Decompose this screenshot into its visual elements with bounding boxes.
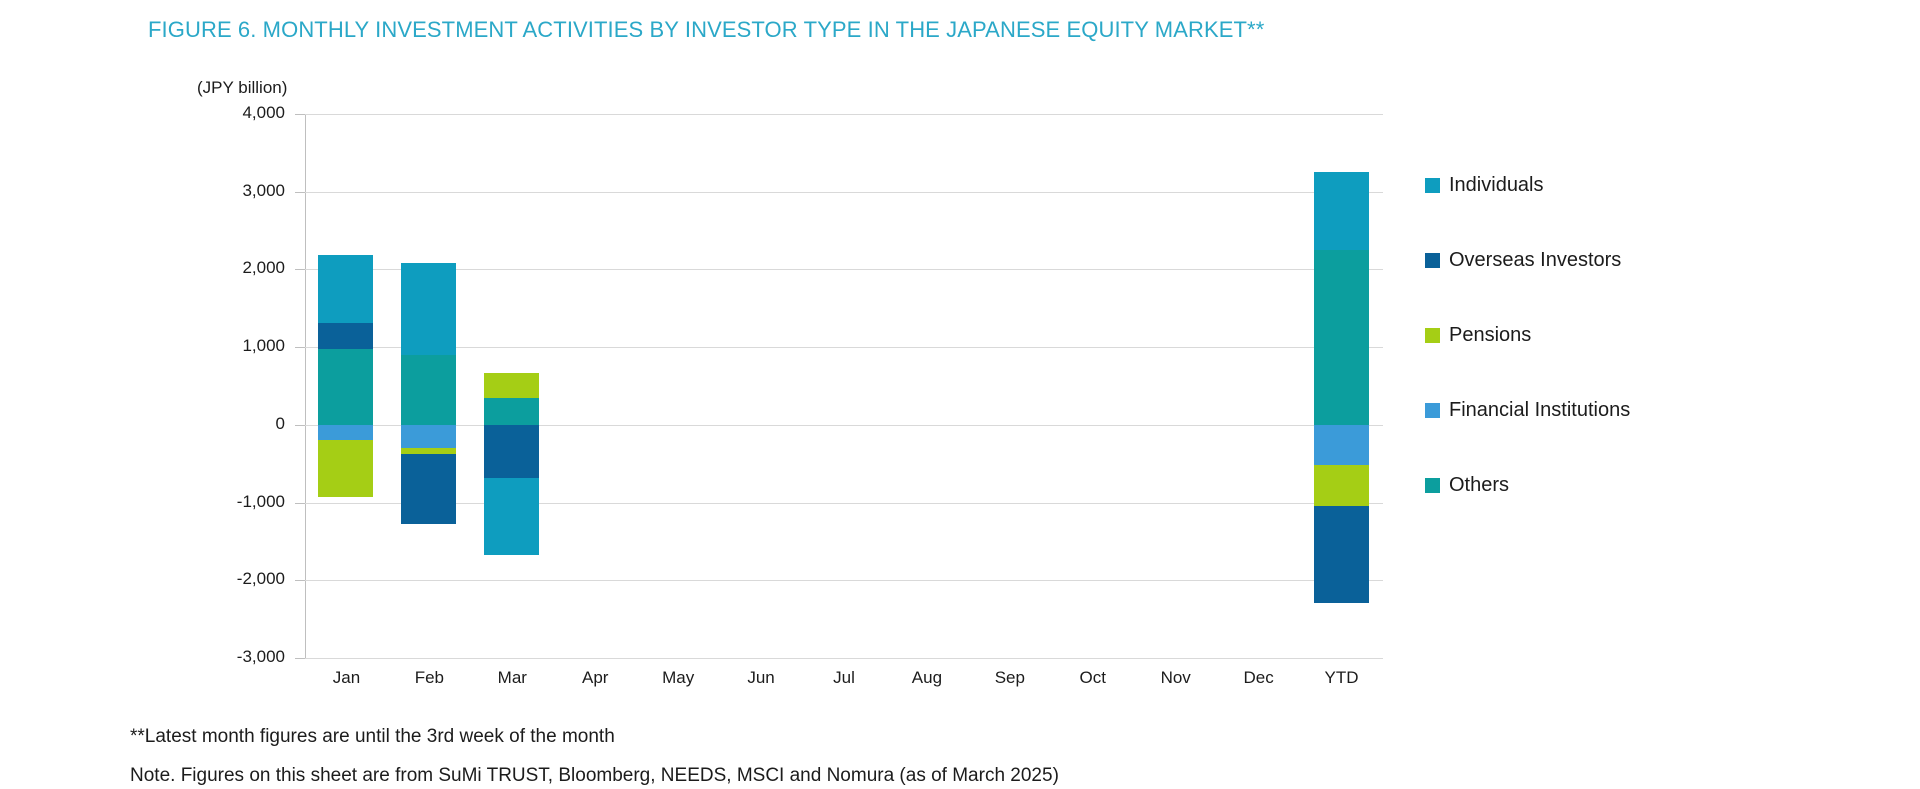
x-tick-label-jul: Jul [799,668,889,688]
bar-segment-overseas-investors[interactable] [318,323,373,349]
y-axis-unit-label: (JPY billion) [197,78,287,98]
x-tick-label-sep: Sep [965,668,1055,688]
chart-legend: IndividualsOverseas InvestorsPensionsFin… [1425,148,1845,523]
bar-segment-pensions[interactable] [484,373,539,398]
y-tick-label: -3,000 [205,647,285,667]
bar-group-jul[interactable] [799,114,889,658]
chart-plot-area [305,114,1383,658]
bar-group-apr[interactable] [550,114,640,658]
bar-group-oct[interactable] [1048,114,1138,658]
x-tick-label-feb: Feb [384,668,474,688]
legend-item-label: Overseas Investors [1449,249,1621,272]
x-tick-label-mar: Mar [467,668,557,688]
footnote-sources: Note. Figures on this sheet are from SuM… [130,765,1059,787]
bar-group-sep[interactable] [965,114,1055,658]
legend-swatch-icon [1425,328,1440,343]
legend-swatch-icon [1425,253,1440,268]
legend-item-label: Financial Institutions [1449,399,1630,422]
x-tick-label-apr: Apr [550,668,640,688]
bar-segment-financial-institutions[interactable] [401,425,456,448]
x-tick-label-may: May [633,668,723,688]
legend-item-overseas-investors[interactable]: Overseas Investors [1425,223,1845,298]
bar-group-jun[interactable] [716,114,806,658]
y-tick-mark [295,192,305,193]
bar-group-nov[interactable] [1131,114,1221,658]
y-tick-label: -1,000 [205,492,285,512]
x-tick-label-ytd: YTD [1297,668,1387,688]
bar-group-mar[interactable] [467,114,557,658]
y-tick-label: -2,000 [205,569,285,589]
bar-segment-pensions[interactable] [318,440,373,497]
x-tick-label-dec: Dec [1214,668,1304,688]
y-tick-mark [295,114,305,115]
y-tick-label: 1,000 [205,336,285,356]
legend-item-label: Others [1449,474,1509,497]
bar-group-dec[interactable] [1214,114,1304,658]
bar-segment-financial-institutions[interactable] [318,425,373,441]
bar-segment-others[interactable] [401,355,456,425]
bar-segment-others[interactable] [484,398,539,425]
x-tick-label-jun: Jun [716,668,806,688]
bar-segment-others[interactable] [318,349,373,425]
bar-segment-individuals[interactable] [401,263,456,355]
gridline--3000 [305,658,1383,659]
legend-swatch-icon [1425,178,1440,193]
bar-segment-individuals[interactable] [1314,172,1369,250]
bar-segment-individuals[interactable] [318,255,373,323]
y-tick-mark [295,347,305,348]
x-tick-label-nov: Nov [1131,668,1221,688]
y-tick-mark [295,580,305,581]
bar-segment-individuals[interactable] [484,478,539,556]
legend-swatch-icon [1425,403,1440,418]
bar-group-may[interactable] [633,114,723,658]
x-tick-label-oct: Oct [1048,668,1138,688]
legend-item-individuals[interactable]: Individuals [1425,148,1845,223]
y-tick-mark [295,269,305,270]
bar-segment-financial-institutions[interactable] [1314,425,1369,465]
y-tick-label: 3,000 [205,181,285,201]
y-tick-label: 2,000 [205,258,285,278]
bar-segment-others[interactable] [1314,250,1369,425]
bar-segment-overseas-investors[interactable] [401,454,456,524]
legend-item-label: Pensions [1449,324,1531,347]
legend-item-label: Individuals [1449,174,1544,197]
x-tick-label-aug: Aug [882,668,972,688]
y-tick-mark [295,503,305,504]
footnote-latest-month: **Latest month figures are until the 3rd… [130,726,615,748]
bar-group-ytd[interactable] [1297,114,1387,658]
bar-group-jan[interactable] [301,114,391,658]
legend-swatch-icon [1425,478,1440,493]
x-tick-label-jan: Jan [301,668,391,688]
y-tick-label: 4,000 [205,103,285,123]
y-tick-mark [295,658,305,659]
y-tick-mark [295,425,305,426]
page-title: FIGURE 6. MONTHLY INVESTMENT ACTIVITIES … [148,17,1264,43]
bar-segment-pensions[interactable] [1314,465,1369,505]
y-tick-label: 0 [205,414,285,434]
legend-item-others[interactable]: Others [1425,448,1845,523]
bar-group-aug[interactable] [882,114,972,658]
bar-segment-overseas-investors[interactable] [484,425,539,478]
bar-group-feb[interactable] [384,114,474,658]
bar-segment-overseas-investors[interactable] [1314,506,1369,603]
legend-item-pensions[interactable]: Pensions [1425,298,1845,373]
legend-item-financial-institutions[interactable]: Financial Institutions [1425,373,1845,448]
